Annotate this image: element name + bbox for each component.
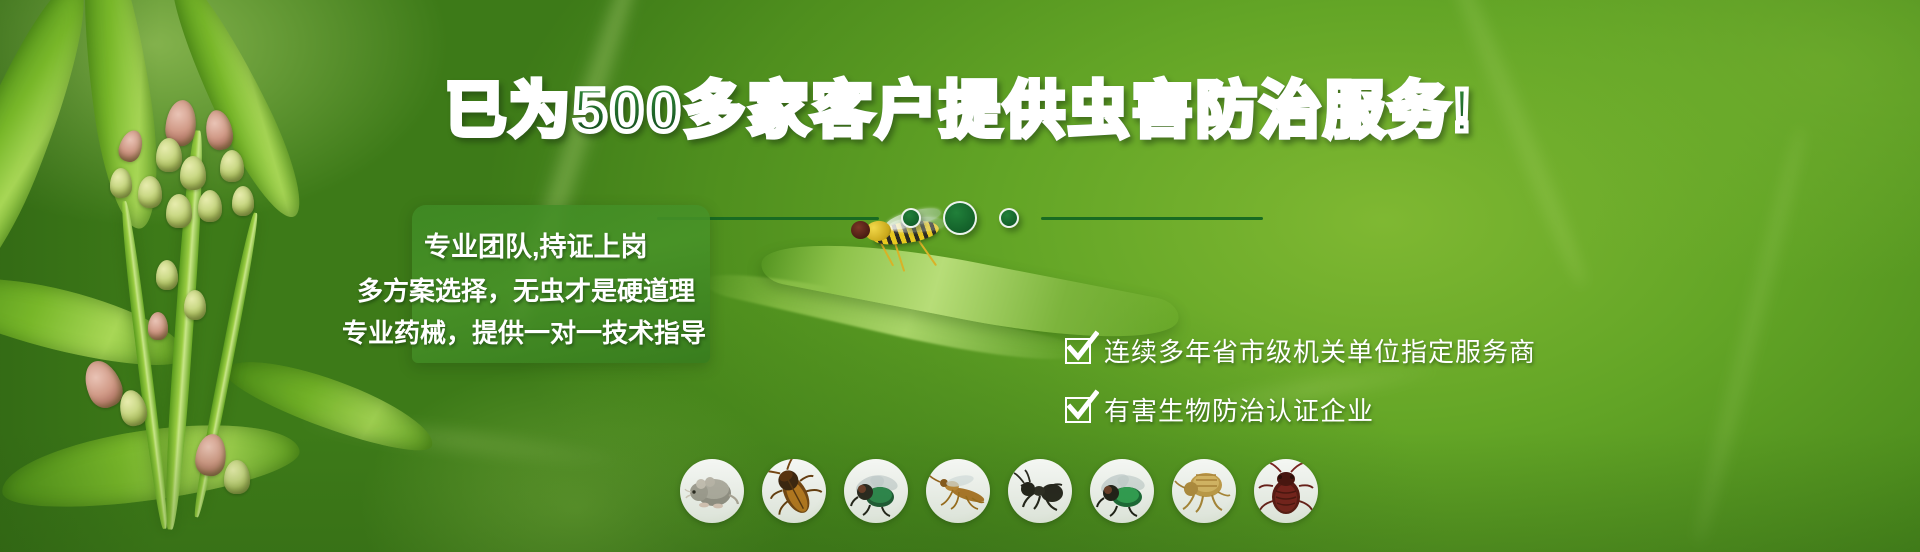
feature-callout-box: 专业团队,持证上岗 多方案选择，无虫才是硬道理 专业药械，提供一对一技术指导 <box>412 205 710 363</box>
promotional-banner: 已为500多家客户提供虫害防治服务! 专业团队,持证上岗 多方案选择，无虫才是硬… <box>0 0 1920 552</box>
plant-bud <box>156 138 182 172</box>
plant-bud <box>220 150 244 182</box>
checkbox-checked-icon <box>1065 397 1091 423</box>
pest-icon-row <box>680 459 1318 523</box>
divider-line-right <box>1041 217 1263 220</box>
plant-bud <box>138 176 162 208</box>
fly-icon[interactable] <box>844 459 908 523</box>
mosquito-icon[interactable] <box>926 459 990 523</box>
hoverfly-leg <box>894 243 905 272</box>
page-title: 已为500多家客户提供虫害防治服务! <box>0 78 1920 142</box>
hoverfly-leg <box>880 243 894 267</box>
plant-bud <box>184 290 206 320</box>
checkbox-checked-icon <box>1065 338 1091 364</box>
mouse-icon[interactable] <box>680 459 744 523</box>
greenfly-icon[interactable] <box>1090 459 1154 523</box>
headline-text: 已为500多家客户提供虫害防治服务! <box>445 76 1475 144</box>
plant-bud <box>156 260 178 290</box>
list-item: 连续多年省市级机关单位指定服务商 <box>1065 332 1536 369</box>
plant-bud <box>110 168 132 198</box>
cockroach-icon[interactable] <box>762 459 826 523</box>
ant-icon[interactable] <box>1008 459 1072 523</box>
plant-bud <box>148 312 168 340</box>
divider-dot-large <box>943 201 977 235</box>
hoverfly-leg <box>918 240 937 266</box>
plant-bud <box>198 190 222 222</box>
divider-dot-small-right <box>999 208 1019 228</box>
bedbug-icon[interactable] <box>1254 459 1318 523</box>
checklist-text: 连续多年省市级机关单位指定服务商 <box>1104 332 1536 369</box>
list-item: 有害生物防治认证企业 <box>1065 391 1536 428</box>
plant-bud <box>224 460 250 494</box>
plant-bud <box>232 186 254 216</box>
feature-line-3: 专业药械，提供一对一技术指导 <box>342 320 710 346</box>
divider-dot-small-left <box>901 208 921 228</box>
plant-bud <box>166 194 192 228</box>
feature-line-1: 专业团队,持证上岗 <box>412 234 710 261</box>
feature-line-2: 多方案选择，无虫才是硬道理 <box>357 278 710 304</box>
plant-bud <box>180 156 206 190</box>
certification-checklist: 连续多年省市级机关单位指定服务商 有害生物防治认证企业 <box>1065 332 1536 428</box>
flea-icon[interactable] <box>1172 459 1236 523</box>
checklist-text: 有害生物防治认证企业 <box>1104 391 1374 428</box>
